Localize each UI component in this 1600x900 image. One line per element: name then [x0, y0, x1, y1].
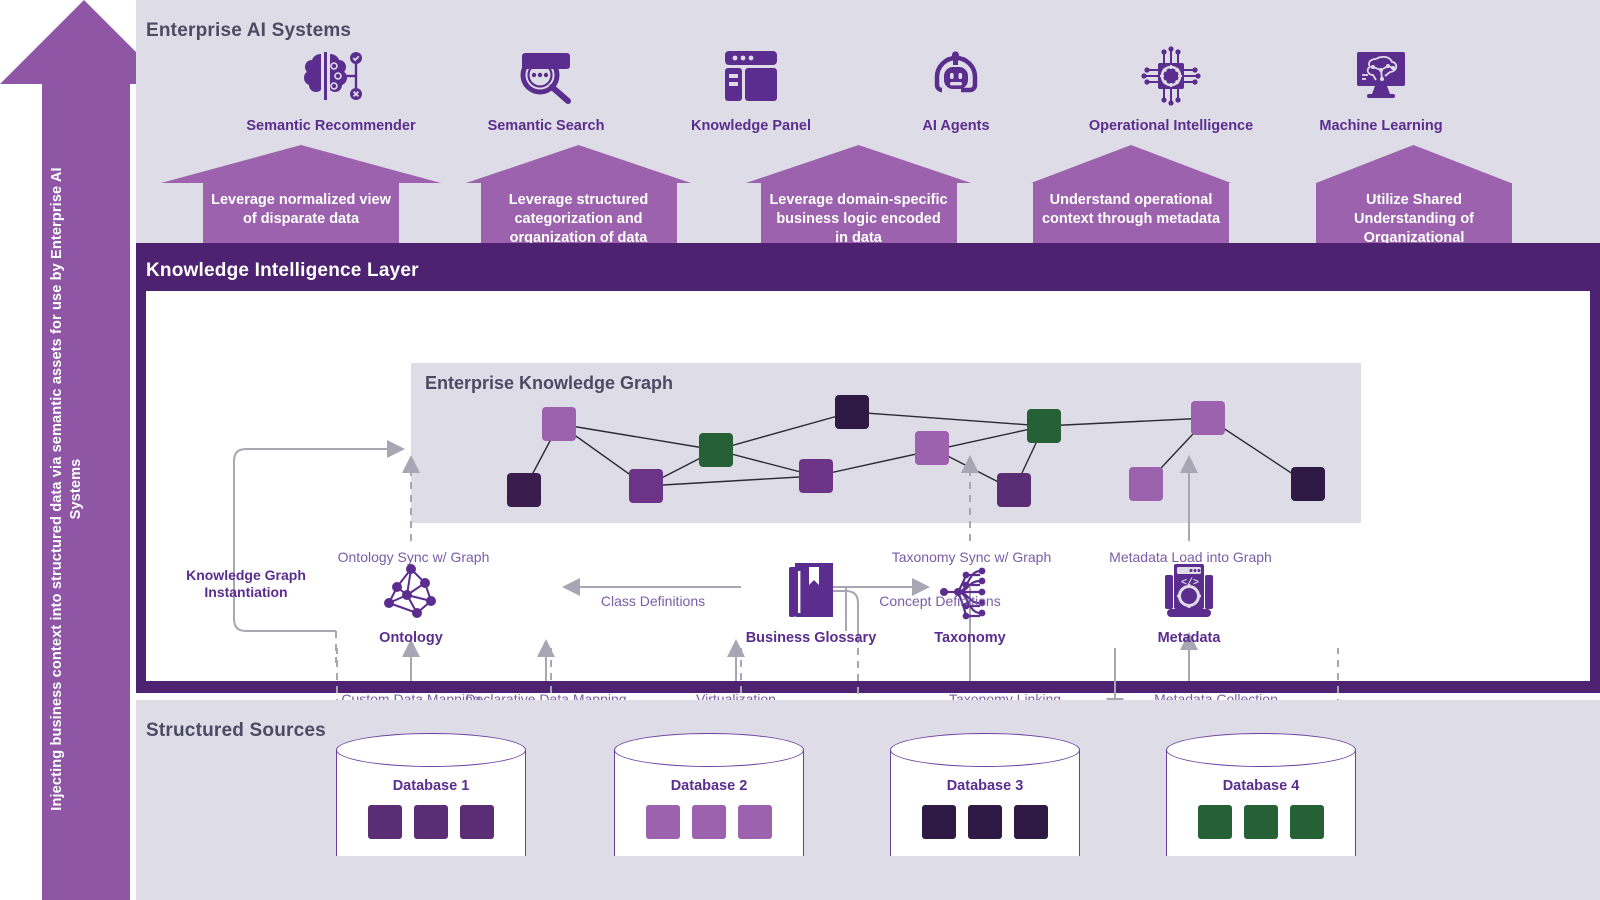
- ai-system-label: AI Agents: [871, 118, 1041, 135]
- message-text: Understand operational context through m…: [1033, 183, 1229, 249]
- ai-system-label: Machine Learning: [1296, 118, 1466, 135]
- asset-label: Business Glossary: [736, 630, 886, 646]
- benefit-message-3: Leverage domain-specific business logic …: [746, 145, 971, 249]
- enterprise-ai-systems-title: Enterprise AI Systems: [146, 20, 351, 42]
- brain-network-icon: [246, 40, 416, 112]
- robot-headset-icon: [871, 40, 1041, 112]
- database-label: Database 4: [1166, 778, 1356, 794]
- data-chip: [414, 805, 448, 839]
- graph-node: [799, 459, 833, 493]
- network-graph-icon: [336, 559, 486, 623]
- ai-system-semantic-search[interactable]: Semantic Search: [461, 40, 631, 135]
- benefit-message-2: Leverage structured categorization and o…: [466, 145, 691, 249]
- graph-node: [699, 433, 733, 467]
- database-cylinder[interactable]: Database 4: [1166, 733, 1358, 873]
- database-label: Database 2: [614, 778, 804, 794]
- database-cylinder[interactable]: Database 2: [614, 733, 806, 873]
- data-chip: [1290, 805, 1324, 839]
- ai-system-ai-agents[interactable]: AI Agents: [871, 40, 1041, 135]
- message-arrow-tip: [466, 145, 691, 183]
- code-gear-icon: </>: [1114, 559, 1264, 623]
- database-cylinder[interactable]: Database 3: [890, 733, 1082, 873]
- data-chip: [460, 805, 494, 839]
- tree-branch-icon: [895, 559, 1045, 623]
- graph-node: [835, 395, 869, 429]
- database-chips: [614, 805, 804, 839]
- cylinder-top: [614, 733, 804, 767]
- asset-business-glossary[interactable]: Business Glossary: [736, 559, 886, 646]
- magnifier-icon: [461, 40, 631, 112]
- database-label: Database 1: [336, 778, 526, 794]
- graph-node: [1291, 467, 1325, 501]
- panel-layout-icon: [666, 40, 836, 112]
- graph-node: [1027, 409, 1061, 443]
- label-metadata-load: Metadata Load into Graph: [1083, 549, 1298, 566]
- ai-system-label: Semantic Search: [461, 118, 631, 135]
- knowledge-intelligence-layer: Knowledge Intelligence Layer Enterprise …: [136, 243, 1600, 693]
- kil-content-panel: Enterprise Knowledge Graph: [146, 291, 1590, 681]
- message-arrow-tip: [1031, 145, 1231, 183]
- graph-edges: [411, 363, 1361, 523]
- data-chip: [1014, 805, 1048, 839]
- label-concept-definitions: Concept Definitions: [870, 593, 1010, 610]
- data-chip: [922, 805, 956, 839]
- structured-sources-band: Structured Sources Database 1Database 2D…: [136, 700, 1600, 900]
- message-text: Leverage domain-specific business logic …: [761, 183, 957, 249]
- diagram-canvas: Injecting business context into structur…: [0, 0, 1600, 900]
- ai-system-machine-learning[interactable]: Machine Learning: [1296, 40, 1466, 135]
- label-taxonomy-sync: Taxonomy Sync w/ Graph: [864, 549, 1079, 566]
- ai-system-label: Knowledge Panel: [666, 118, 836, 135]
- database-chips: [1166, 805, 1356, 839]
- benefit-message-4: Understand operational context through m…: [1031, 145, 1231, 249]
- cylinder-top: [890, 733, 1080, 767]
- database-cylinder[interactable]: Database 1: [336, 733, 528, 873]
- enterprise-knowledge-graph-panel: Enterprise Knowledge Graph: [411, 363, 1361, 523]
- database-label: Database 3: [890, 778, 1080, 794]
- cylinder-top: [1166, 733, 1356, 767]
- data-chip: [968, 805, 1002, 839]
- label-ontology-sync: Ontology Sync w/ Graph: [306, 549, 521, 566]
- graph-node: [1129, 467, 1163, 501]
- ai-system-semantic-recommender[interactable]: Semantic Recommender: [246, 40, 416, 135]
- data-chip: [1198, 805, 1232, 839]
- graph-node: [507, 473, 541, 507]
- database-chips: [336, 805, 526, 839]
- benefit-message-5: Utilize Shared Understanding of Organiza…: [1316, 145, 1511, 249]
- label-knowledge-graph-instantiation: Knowledge Graph Instantiation: [156, 567, 336, 601]
- ai-system-operational-intelligence[interactable]: Operational Intelligence: [1086, 40, 1256, 135]
- ai-system-knowledge-panel[interactable]: Knowledge Panel: [666, 40, 836, 135]
- data-chip: [738, 805, 772, 839]
- monitor-brain-icon: [1296, 40, 1466, 112]
- benefit-message-1: Leverage normalized view of disparate da…: [161, 145, 441, 249]
- data-chip: [646, 805, 680, 839]
- database-chips: [890, 805, 1080, 839]
- ai-system-label: Operational Intelligence: [1086, 118, 1256, 135]
- asset-label: Taxonomy: [895, 630, 1045, 646]
- graph-node: [997, 473, 1031, 507]
- label-class-definitions: Class Definitions: [588, 593, 718, 610]
- graph-node: [542, 407, 576, 441]
- structured-sources-title: Structured Sources: [146, 720, 326, 742]
- cylinder-top: [336, 733, 526, 767]
- graph-node: [1191, 401, 1225, 435]
- data-chip: [692, 805, 726, 839]
- knowledge-intelligence-layer-title: Knowledge Intelligence Layer: [146, 260, 419, 282]
- message-text: Leverage structured categorization and o…: [481, 183, 677, 249]
- message-arrow-tip: [746, 145, 971, 183]
- ai-system-label: Semantic Recommender: [246, 118, 416, 135]
- graph-node: [915, 431, 949, 465]
- data-chip: [1244, 805, 1278, 839]
- message-text: Utilize Shared Understanding of Organiza…: [1316, 183, 1512, 249]
- book-icon: [736, 559, 886, 623]
- message-arrow-tip: [161, 145, 441, 183]
- asset-ontology[interactable]: Ontology: [336, 559, 486, 646]
- asset-metadata[interactable]: </> Metadata: [1114, 559, 1264, 646]
- asset-label: Metadata: [1114, 630, 1264, 646]
- asset-label: Ontology: [336, 630, 486, 646]
- enterprise-ai-systems-band: Enterprise AI Systems: [136, 0, 1600, 250]
- data-chip: [368, 805, 402, 839]
- message-text: Leverage normalized view of disparate da…: [203, 183, 399, 249]
- graph-node: [629, 469, 663, 503]
- message-arrow-tip: [1316, 145, 1511, 183]
- chip-gear-icon: [1086, 40, 1256, 112]
- value-flow-arrow-label: Injecting business context into structur…: [48, 139, 86, 839]
